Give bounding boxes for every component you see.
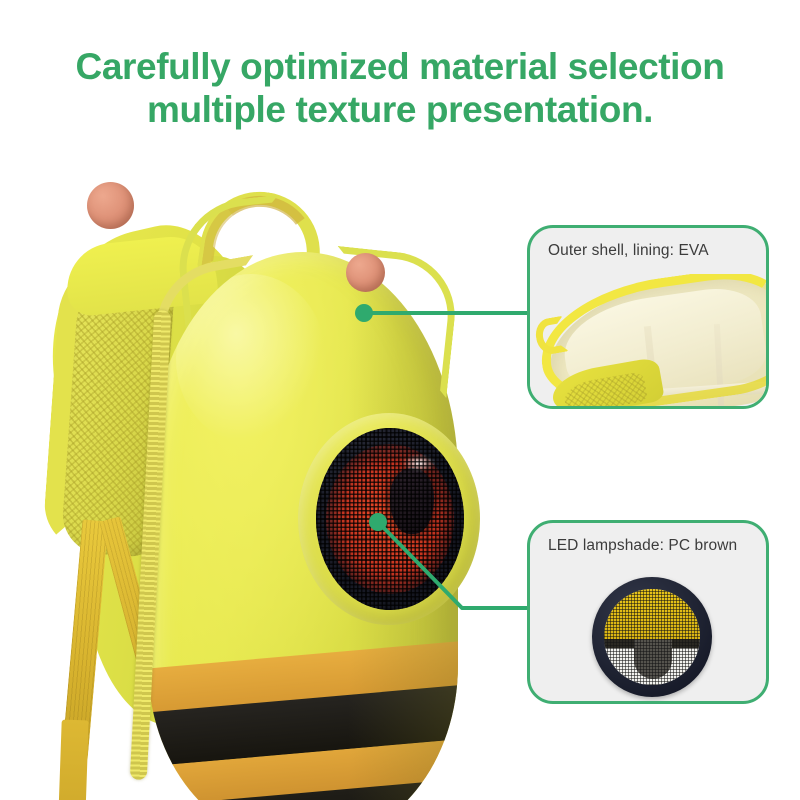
product-feature-slide: Carefully optimized material selection m… bbox=[0, 0, 800, 800]
right-antenna-ball bbox=[346, 253, 385, 292]
headline-line-2: multiple texture presentation. bbox=[0, 89, 800, 132]
callout-card-led[interactable]: LED lampshade: PC brown bbox=[527, 520, 769, 704]
eva-handle-loop bbox=[533, 316, 569, 357]
callout-label-outer-shell: Outer shell, lining: EVA bbox=[548, 242, 756, 260]
led-grid-texture bbox=[604, 589, 700, 685]
callout-label-led: LED lampshade: PC brown bbox=[548, 537, 756, 555]
callout-image-led bbox=[592, 577, 712, 697]
callout-card-outer-shell[interactable]: Outer shell, lining: EVA bbox=[527, 225, 769, 409]
callout-image-outer-shell bbox=[530, 274, 766, 406]
page-title: Carefully optimized material selection m… bbox=[0, 46, 800, 132]
led-display-eye bbox=[316, 428, 464, 610]
left-antenna-ball bbox=[87, 182, 134, 229]
webbing-tail bbox=[58, 720, 88, 800]
led-dot-matrix bbox=[316, 428, 464, 610]
led-module-face bbox=[604, 589, 700, 685]
product-image bbox=[30, 160, 530, 780]
headline-line-1: Carefully optimized material selection bbox=[76, 46, 725, 87]
